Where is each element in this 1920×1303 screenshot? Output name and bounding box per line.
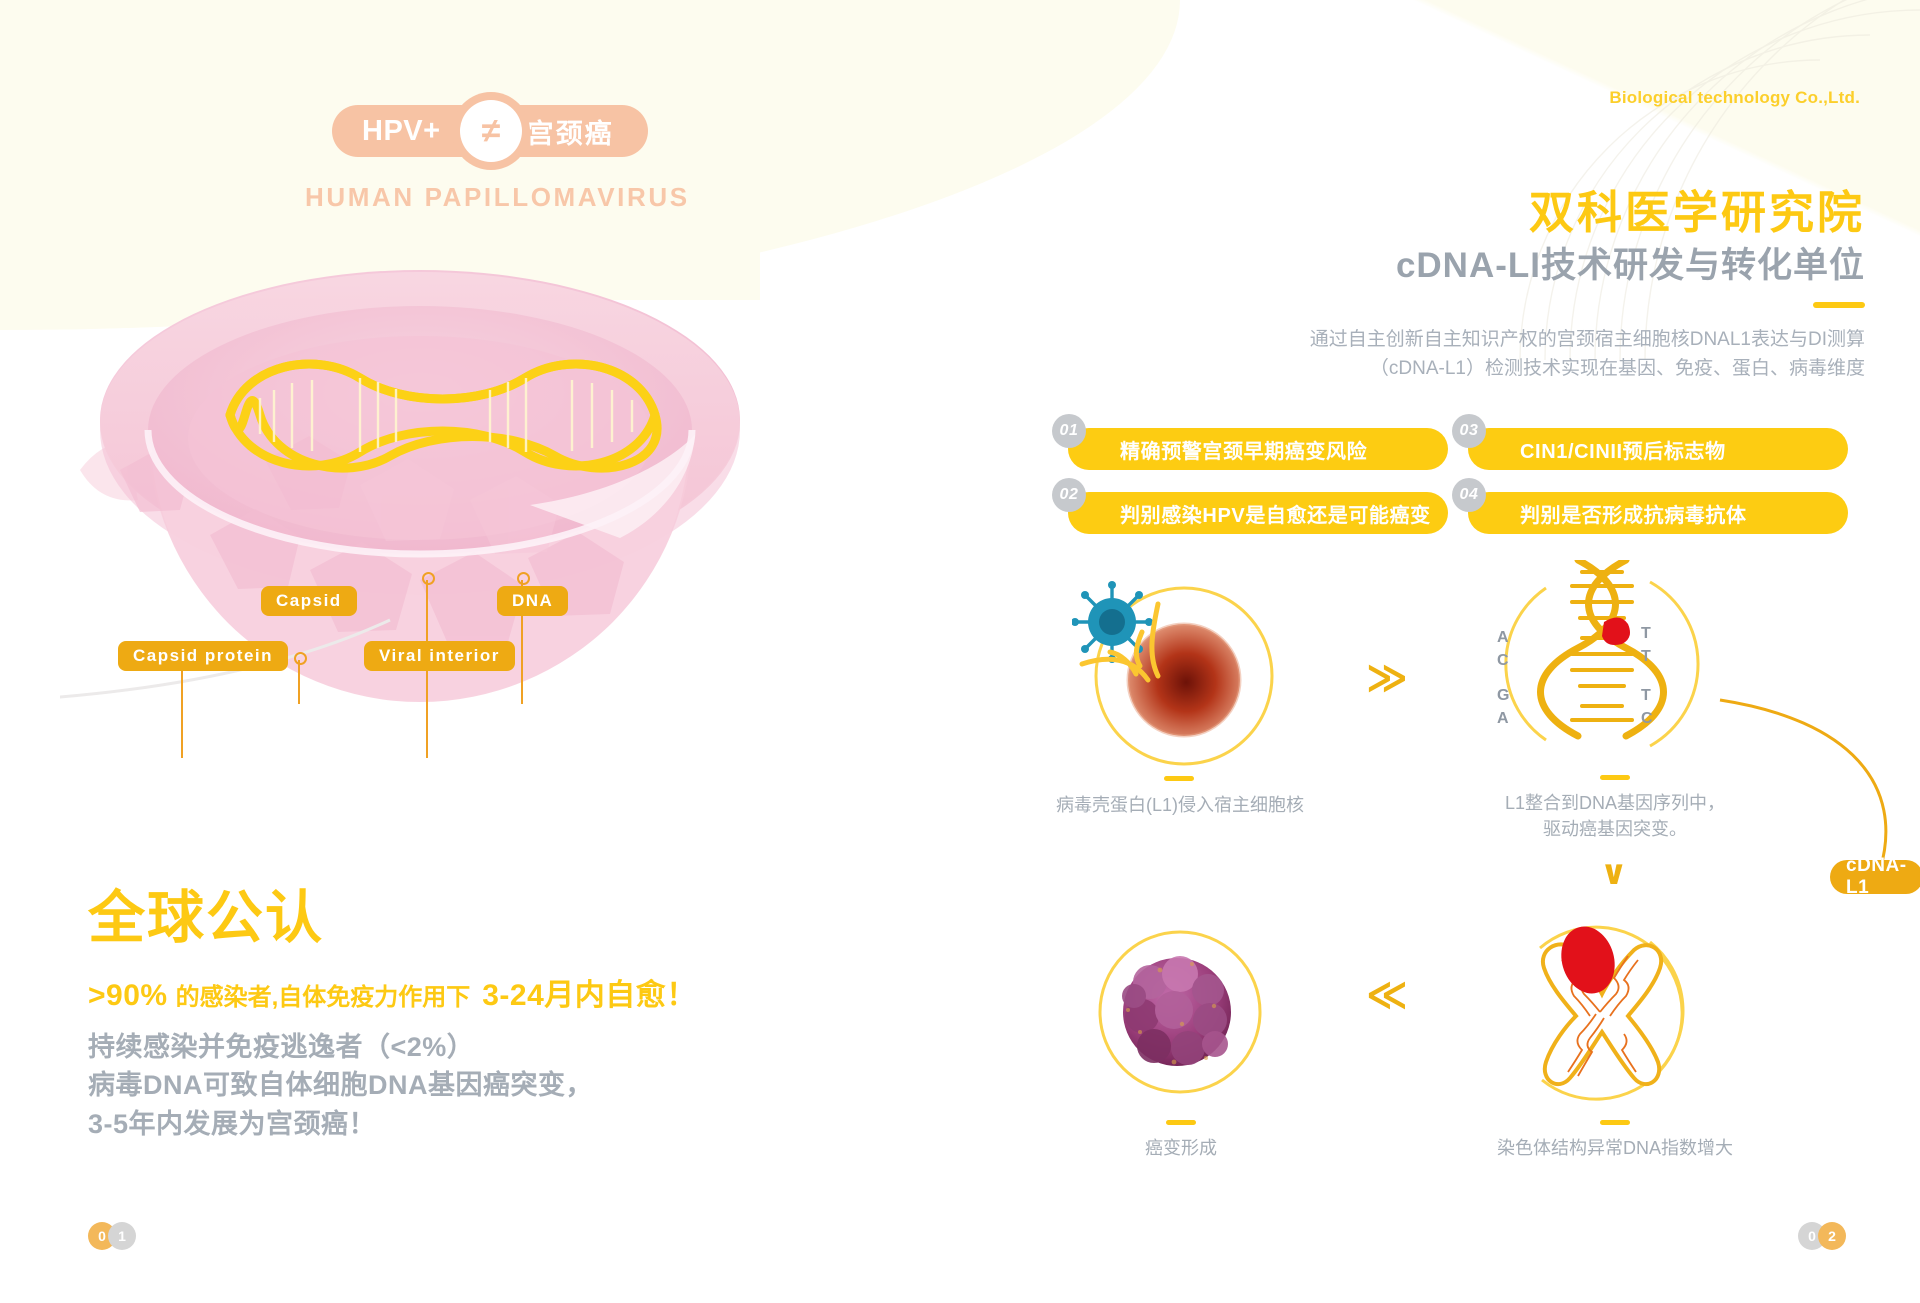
title-divider [1813, 302, 1865, 308]
arrow-left-icon: ≪ [1366, 975, 1408, 1015]
feature-number-02: 02 [1052, 478, 1086, 512]
cdna-curve-graphic [1700, 570, 1920, 900]
step4-caption: 癌变形成 [1081, 1135, 1281, 1161]
page-number-right: 0 2 [1798, 1222, 1846, 1250]
step1-virus-entry-graphic [1072, 580, 1292, 780]
global-consensus-body: 持续感染并免疫逃逸者（<2%） 病毒DNA可致自体细胞DNA基因癌突变， 3-5… [88, 1028, 593, 1143]
step3-chromosome-graphic [1510, 920, 1720, 1120]
feature-number-03: 03 [1452, 414, 1486, 448]
page-number-left: 0 1 [88, 1222, 136, 1250]
step2-dna-helix-graphic [1500, 560, 1730, 780]
tag-label-viral-interior: Viral interior [379, 646, 500, 666]
hpv-badge-right-label: 宫颈癌 [527, 112, 614, 151]
global-consensus-title: 全球公认 [88, 890, 324, 947]
tag-capsid: Capsid [261, 586, 357, 616]
dna-base-right-1: T [1641, 648, 1651, 666]
feature-pill-03[interactable]: 03 CIN1/CINII预后标志物 [1468, 428, 1848, 470]
dna-base-left-1: C [1497, 652, 1509, 670]
process-diagram: 病毒壳蛋白(L1)侵入宿主细胞核 ≫ [1060, 580, 1880, 1080]
hpv-subtitle: HUMAN PAPILLOMAVIRUS [305, 182, 690, 213]
feature-label-04: 判别是否形成抗病毒抗体 [1468, 499, 1747, 528]
dna-base-left-0: A [1497, 629, 1509, 647]
step4-caption-rule [1166, 1120, 1196, 1125]
callout-dot-viral-interior [422, 572, 435, 585]
tag-label-capsid-protein: Capsid protein [133, 646, 273, 666]
callout-line-capsid-protein [181, 660, 183, 758]
tag-dna: DNA [497, 586, 568, 616]
step1-caption: 病毒壳蛋白(L1)侵入宿主细胞核 [1020, 792, 1340, 818]
step1-caption-rule [1164, 776, 1194, 781]
dna-base-right-0: T [1641, 625, 1651, 643]
dna-base-right-2: T [1641, 687, 1651, 705]
feature-number-04: 04 [1452, 478, 1486, 512]
callout-line-capsid [298, 660, 300, 704]
callout-dot-dna [517, 572, 530, 585]
callout-dot-capsid [294, 652, 307, 665]
tag-capsid-protein: Capsid protein [118, 641, 288, 671]
step2-caption-rule [1600, 775, 1630, 780]
hpv-badge-left-label: HPV+ [362, 115, 441, 148]
description-line-1: 通过自主创新自主知识产权的宫颈宿主细胞核DNAL1表达与DI测算 [1285, 325, 1865, 354]
highlight-middle: 的感染者,自体免疫力作用下 [168, 977, 479, 1012]
highlight-tail: 3-24月内自愈！ [478, 970, 697, 1014]
cdna-l1-badge: cDNA-L1 [1830, 860, 1920, 894]
feature-pill-01[interactable]: 01 精确预警宫颈早期癌变风险 [1068, 428, 1448, 470]
page-right-digit-2: 2 [1818, 1222, 1846, 1250]
infographic-page: HPV+ 宫颈癌 ≠ HUMAN PAPILLOMAVIRUS Biologic… [0, 0, 1920, 1303]
company-name: Biological technology Co.,Ltd. [1609, 88, 1860, 108]
dna-base-right-3: C [1641, 710, 1653, 728]
feature-label-02: 判别感染HPV是自愈还是可能癌变 [1068, 499, 1431, 528]
step3-caption-rule [1600, 1120, 1630, 1125]
arrow-down-icon: ∨ [1600, 856, 1628, 890]
dna-base-left-2: G [1497, 687, 1509, 705]
tag-label-dna: DNA [512, 591, 553, 611]
arrow-right-icon: ≫ [1366, 658, 1408, 698]
feature-pill-02[interactable]: 02 判别感染HPV是自愈还是可能癌变 [1068, 492, 1448, 534]
not-equal-symbol: ≠ [460, 100, 522, 162]
dna-base-left-3: A [1497, 710, 1509, 728]
feature-number-01: 01 [1052, 414, 1086, 448]
global-consensus-highlight: >90% 的感染者,自体免疫力作用下 3-24月内自愈！ [88, 970, 697, 1014]
page-left-digit-2: 1 [108, 1222, 136, 1250]
feature-label-03: CIN1/CINII预后标志物 [1468, 435, 1726, 464]
tag-viral-interior: Viral interior [364, 641, 515, 671]
institute-description: 通过自主创新自主知识产权的宫颈宿主细胞核DNAL1表达与DI测算 （cDNA-L… [1285, 325, 1865, 384]
body-line-2: 病毒DNA可致自体细胞DNA基因癌突变， [88, 1066, 593, 1104]
not-equal-icon: ≠ [452, 92, 530, 170]
institute-title: 双科医学研究院 [1529, 190, 1865, 235]
institute-subtitle: cDNA-LI技术研发与转化单位 [1396, 248, 1865, 283]
step3-caption: 染色体结构异常DNA指数增大 [1470, 1135, 1760, 1161]
mutation-marker [1602, 617, 1630, 645]
step4-tumor-graphic [1082, 920, 1282, 1120]
body-line-3: 3-5年内发展为宫颈癌！ [88, 1105, 593, 1143]
description-line-2: （cDNA-L1）检测技术实现在基因、免疫、蛋白、病毒维度 [1285, 354, 1865, 383]
body-line-1: 持续感染并免疫逃逸者（<2%） [88, 1028, 593, 1066]
tag-label-capsid: Capsid [276, 591, 342, 611]
feature-pill-04[interactable]: 04 判别是否形成抗病毒抗体 [1468, 492, 1848, 534]
feature-label-01: 精确预警宫颈早期癌变风险 [1068, 435, 1367, 464]
highlight-percent: >90% [88, 979, 168, 1013]
